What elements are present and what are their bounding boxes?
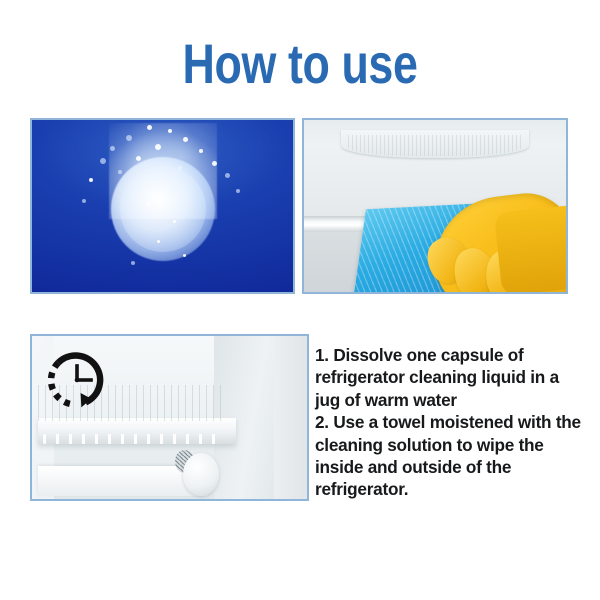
image-tablet-dissolving: [30, 118, 295, 294]
image-fridge-clock: [30, 334, 309, 501]
bubble: [183, 254, 186, 257]
fridge-ceiling-panel: [341, 130, 530, 158]
bubble: [168, 129, 172, 133]
bubble: [173, 220, 176, 223]
bubble: [89, 178, 93, 182]
bubble: [82, 199, 86, 203]
bubble: [131, 261, 135, 265]
bubble: [225, 173, 230, 178]
bubble: [155, 144, 161, 150]
fridge-photo: [32, 336, 307, 499]
bubble: [236, 189, 240, 193]
page-title: How to use: [60, 34, 540, 94]
image-gloved-hand-wiping: [302, 118, 568, 294]
bubble: [147, 125, 152, 130]
tablet-photo: [32, 120, 293, 292]
fridge-door-edge: [274, 336, 307, 499]
bubble: [100, 158, 106, 164]
wiping-photo: [304, 120, 566, 292]
bubble: [147, 203, 150, 206]
bubble: [118, 170, 122, 174]
fridge-shelf-dots: [43, 434, 219, 444]
glove-cuff: [494, 206, 566, 292]
clock-icon: [41, 344, 113, 416]
how-to-use-infographic: How to use: [0, 0, 600, 600]
fridge-temperature-knob: [183, 453, 219, 495]
capsule-highlight: [120, 166, 206, 252]
instructions-text: 1. Dissolve one capsule of refrigerator …: [315, 344, 583, 501]
